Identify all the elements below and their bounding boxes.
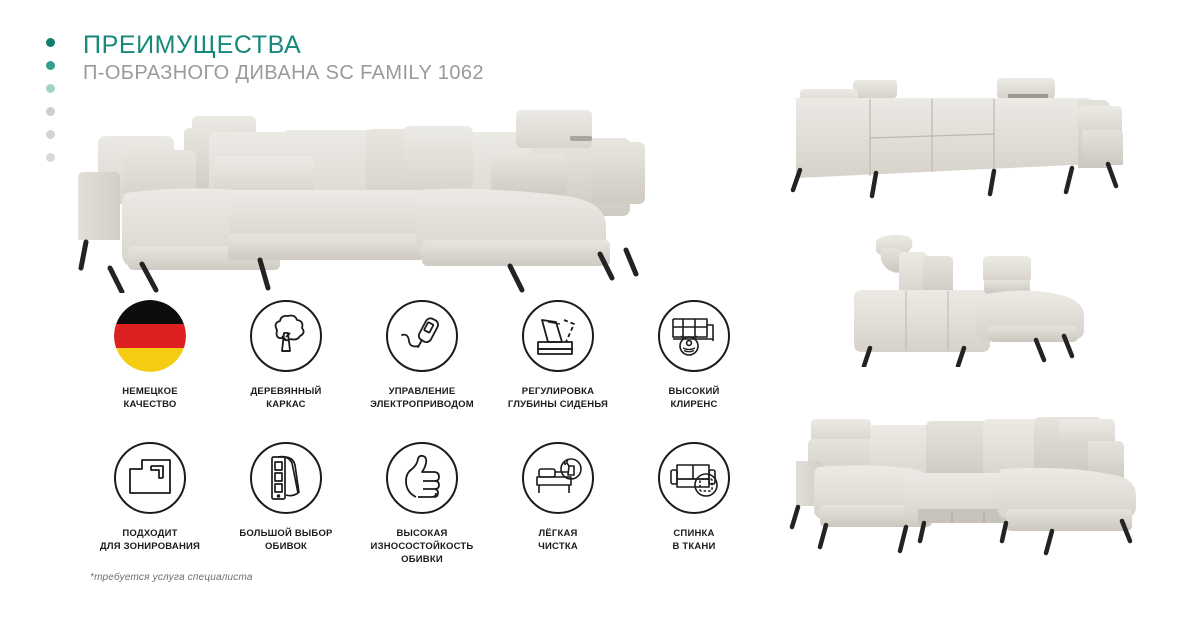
feature-fabric-back: СПИНКАВ ТКАНИ: [626, 442, 762, 587]
tree-icon: [250, 300, 322, 372]
feature-seat-depth-adjust: РЕГУЛИРОВКАГЛУБИНЫ СИДЕНЬЯ: [490, 300, 626, 442]
thumbs-up-icon: [386, 442, 458, 514]
feature-label: БОЛЬШОЙ ВЫБОРОБИВОК: [221, 527, 351, 553]
sofa-sleeper-open-view: [788, 405, 1163, 570]
feature-label: ДЕРЕВЯННЫЙКАРКАС: [221, 385, 351, 411]
decorative-dot-column: [43, 38, 57, 162]
feature-label: ВЫСОКИЙКЛИРЕНС: [629, 385, 759, 411]
german-flag-icon: [114, 300, 186, 372]
feature-high-clearance: ВЫСОКИЙКЛИРЕНС: [626, 300, 762, 442]
sofa-side-view: [848, 222, 1113, 367]
deco-dot-2: [46, 61, 55, 70]
deco-dot-5: [46, 130, 55, 139]
deco-dot-6: [46, 153, 55, 162]
advantages-page: ПРЕИМУЩЕСТВА П-ОБРАЗНОГО ДИВАНА SC FAMIL…: [0, 0, 1200, 620]
page-subtitle: П-ОБРАЗНОГО ДИВАНА SC FAMILY 1062: [83, 60, 723, 87]
sofa-rear-view: [782, 72, 1142, 207]
feature-label: РЕГУЛИРОВКАГЛУБИНЫ СИДЕНЬЯ: [493, 385, 623, 411]
feature-label: СПИНКАВ ТКАНИ: [629, 527, 759, 553]
spray-cleaning-icon: [522, 442, 594, 514]
feature-label: ЛЁГКАЯЧИСТКА: [493, 527, 623, 553]
feature-label: ВЫСОКАЯИЗНОСОСТОЙКОСТЬОБИВКИ: [357, 527, 487, 566]
feature-electric-control: УПРАВЛЕНИЕЭЛЕКТРОПРИВОДОМ: [354, 300, 490, 442]
deco-dot-3: [46, 84, 55, 93]
feature-grid: НЕМЕЦКОЕКАЧЕСТВО ДЕРЕВЯННЫЙКАРКАС: [82, 300, 762, 587]
deco-dot-1: [46, 38, 55, 47]
seat-depth-adjust-icon: [522, 300, 594, 372]
feature-zoning: ПОДХОДИТДЛЯ ЗОНИРОВАНИЯ: [82, 442, 218, 587]
feature-wooden-frame: ДЕРЕВЯННЫЙКАРКАС: [218, 300, 354, 442]
feature-upholstery-choice: БОЛЬШОЙ ВЫБОРОБИВОК: [218, 442, 354, 587]
floorplan-zoning-icon: [114, 442, 186, 514]
fabric-back-icon: [658, 442, 730, 514]
feature-label: УПРАВЛЕНИЕЭЛЕКТРОПРИВОДОМ: [357, 385, 487, 411]
feature-wear-resistance: ВЫСОКАЯИЗНОСОСТОЙКОСТЬОБИВКИ: [354, 442, 490, 587]
page-title: ПРЕИМУЩЕСТВА: [83, 30, 723, 60]
deco-dot-4: [46, 107, 55, 116]
feature-label: ПОДХОДИТДЛЯ ЗОНИРОВАНИЯ: [85, 527, 215, 553]
sofa-main-front-view: [70, 98, 680, 293]
feature-german-quality: НЕМЕЦКОЕКАЧЕСТВО: [82, 300, 218, 442]
robot-vacuum-icon: [658, 300, 730, 372]
feature-easy-cleaning: ЛЁГКАЯЧИСТКА: [490, 442, 626, 587]
feature-label: НЕМЕЦКОЕКАЧЕСТВО: [85, 385, 215, 411]
heading-block: ПРЕИМУЩЕСТВА П-ОБРАЗНОГО ДИВАНА SC FAMIL…: [83, 30, 723, 87]
remote-control-icon: [386, 300, 458, 372]
footnote: *требуется услуга специалиста: [90, 572, 253, 583]
fabric-swatches-icon: [250, 442, 322, 514]
